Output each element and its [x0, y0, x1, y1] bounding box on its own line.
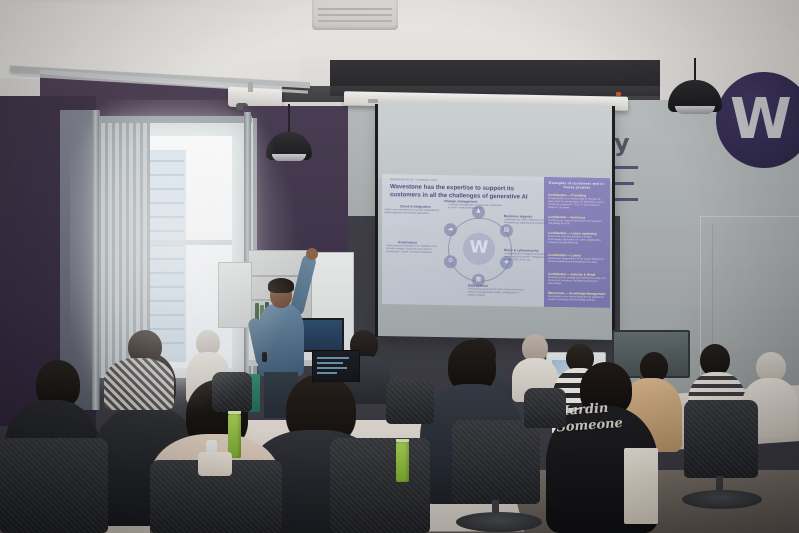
pendant-lamp-left-glow [272, 154, 306, 161]
screen-housing-label [368, 99, 378, 103]
slide-side-panel: Examples of customers and in-house proje… [544, 177, 610, 308]
laptop-front-row[interactable] [312, 350, 360, 382]
office-chair-7[interactable] [524, 388, 566, 428]
wall-letter-bar-1 [614, 166, 638, 169]
audience-body-checked [104, 358, 174, 410]
presentation-room-photo: y W GENERATIVE AI / CAPABILITIES Wavesto… [0, 0, 799, 533]
office-chair-6[interactable] [386, 380, 434, 424]
slide-title: Wavestone has the expertise to support i… [390, 183, 542, 201]
pendant-lamp-cord-right [694, 58, 696, 82]
window-post-left [92, 110, 99, 410]
projection-screen-blank-area [378, 102, 614, 182]
projector-mount [248, 82, 253, 92]
slide-bullets-data-science: • Prototyping and production of AI • Cho… [468, 289, 524, 299]
slide-case-3-text: Benchmark and build definition of AI/GPA… [548, 235, 606, 245]
diagram-hub: W [463, 232, 495, 265]
juice-carton-1[interactable] [228, 414, 241, 458]
slide-case-1-text: Reorganisation of a maturity study to es… [548, 197, 606, 210]
slide-label-risks-cybersecurity: Risks & cybersecurity [504, 248, 538, 253]
slide-case-4: Confidential — LuxuryIdentification of g… [548, 253, 606, 264]
office-chair-4[interactable] [452, 420, 540, 504]
window-view-tower [146, 150, 186, 362]
slide-case-5: Confidential — Industry & RetailStructur… [548, 272, 606, 286]
wall-text-fragment: y [614, 129, 630, 157]
chair-base-1 [456, 512, 542, 532]
juice-carton-2-top [396, 439, 409, 442]
wall-letter-bar-2 [614, 182, 634, 185]
juice-carton-1-top [228, 411, 241, 414]
slide-case-4-text: Identification of generative AI use case… [548, 257, 606, 264]
wall-letter-bar-3 [614, 198, 638, 201]
slide-label-governance: Governance [398, 240, 417, 244]
slide-label-business-support: Business support [504, 214, 532, 218]
tote-bag[interactable] [624, 448, 658, 524]
slide-case-1: Confidential — IT bankingReorganisation … [548, 193, 606, 210]
office-chair-1[interactable] [0, 438, 108, 533]
office-chair-8[interactable] [212, 372, 252, 412]
diagram-node-cloud-integration: ☁ [444, 223, 457, 236]
slide-case-3: Confidential — Luxury marketingBenchmark… [548, 231, 606, 245]
office-chair-5[interactable] [684, 400, 758, 478]
chair-base-2 [682, 490, 762, 509]
screen-edge-right [612, 106, 615, 339]
juice-carton-2[interactable] [396, 442, 409, 482]
slide-case-2: Confidential — InsuranceIdentifying use … [548, 215, 606, 226]
wavestone-logo-letter: W [730, 96, 799, 146]
diagram-node-business-support: ▤ [500, 224, 513, 237]
slide-label-cloud-integration: Cloud & integration [400, 204, 431, 209]
pendant-lamp-cord-left [288, 104, 290, 134]
slide-bullets-governance: • Structuring of an AI/GenAI CoE • Defin… [386, 245, 442, 255]
storage-cabinet [218, 262, 252, 328]
slide-case-6-text: Development of an internal generative AI… [548, 295, 606, 302]
slide-side-panel-heading: Examples of customers and in-house proje… [548, 181, 606, 191]
slide-label-data-science: Data science [468, 284, 488, 288]
diagram-node-governance: ⚙ [444, 255, 457, 268]
projected-slide: GENERATIVE AI / CAPABILITIES Wavestone h… [382, 174, 610, 308]
diagram-hub-logo: W [463, 237, 495, 258]
snack-bag[interactable] [198, 452, 232, 476]
slide-eyebrow: GENERATIVE AI / CAPABILITIES [390, 178, 437, 182]
air-conditioning-vent [312, 0, 398, 30]
slide-bullets-change-management: • Transition management • Training and a… [448, 204, 504, 211]
blind-track [96, 116, 252, 123]
presenter-clicker [262, 352, 267, 362]
screen-edge-left [375, 104, 378, 337]
slide-case-2-text: Identifying use cases for generative AI … [548, 219, 606, 226]
slide-case-6: Wavestone — Knowledge ManagementDevelopm… [548, 291, 606, 302]
pendant-lamp-right-glow [675, 106, 715, 114]
slide-bullets-cloud-integration: • Build a cloud architecture to host and… [384, 209, 440, 216]
wall-display-left [298, 318, 344, 352]
presenter-hand [306, 248, 318, 260]
office-chair-3[interactable] [330, 438, 430, 533]
slide-label-change-management: Change management [444, 199, 477, 204]
screen-indicator-icon [616, 92, 621, 96]
slide-case-5-text: Structuring of the strategy and roadmap … [548, 276, 606, 286]
presenter-hair [268, 278, 294, 293]
